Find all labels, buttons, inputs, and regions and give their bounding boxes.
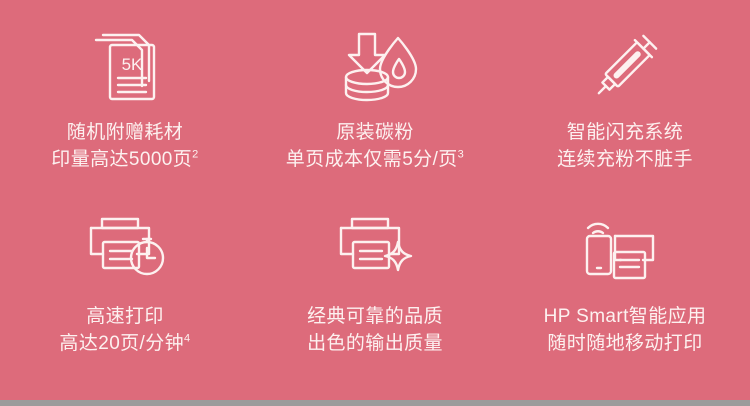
toner-cost-drop-icon <box>325 28 425 106</box>
feature-line-2: 出色的输出质量 <box>307 331 443 358</box>
feature-item-toner-cost: 原装碳粉 单页成本仅需5分/页3 <box>250 28 500 174</box>
feature-item-flash-refill: 智能闪充系统 连续充粉不脏手 <box>500 28 750 174</box>
feature-text-supplies: 随机附赠耗材 印量高达5000页2 <box>51 120 198 174</box>
feature-line-1: HP Smart智能应用 <box>544 304 707 331</box>
feature-line-2: 高达20页/分钟4 <box>59 331 190 358</box>
feature-line-2: 印量高达5000页2 <box>51 147 198 174</box>
footnote-marker: 2 <box>192 149 199 161</box>
phone-wifi-printer-icon <box>575 214 675 286</box>
printer-stopwatch-icon <box>75 214 175 286</box>
feature-item-hp-smart: HP Smart智能应用 随时随地移动打印 <box>500 214 750 358</box>
feature-line-1: 智能闪充系统 <box>557 120 693 147</box>
feature-item-supplies: 5K 随机附赠耗材 印量高达5000页2 <box>0 28 250 174</box>
feature-text-flash-refill: 智能闪充系统 连续充粉不脏手 <box>557 120 693 174</box>
bottom-divider-strip <box>0 400 750 406</box>
feature-item-fast-print: 高速打印 高达20页/分钟4 <box>0 214 250 358</box>
syringe-refill-icon <box>575 28 675 106</box>
feature-grid: 5K 随机附赠耗材 印量高达5000页2 <box>0 0 750 400</box>
feature-line-1: 原装碳粉 <box>286 120 464 147</box>
feature-line-2: 随时随地移动打印 <box>544 331 707 358</box>
feature-text-fast-print: 高速打印 高达20页/分钟4 <box>59 304 190 358</box>
paper-stack-5k-icon: 5K <box>75 28 175 106</box>
feature-text-quality: 经典可靠的品质 出色的输出质量 <box>307 304 443 358</box>
feature-line-2: 连续充粉不脏手 <box>557 147 693 174</box>
footnote-marker: 3 <box>458 149 465 161</box>
feature-line-1: 高速打印 <box>59 304 190 331</box>
printer-sparkle-icon <box>325 214 425 286</box>
hp-printer-feature-banner: 5K 随机附赠耗材 印量高达5000页2 <box>0 0 750 406</box>
footnote-marker: 4 <box>184 333 191 345</box>
feature-line-1: 经典可靠的品质 <box>307 304 443 331</box>
feature-line-1: 随机附赠耗材 <box>51 120 198 147</box>
feature-text-hp-smart: HP Smart智能应用 随时随地移动打印 <box>544 304 707 358</box>
feature-text-toner-cost: 原装碳粉 单页成本仅需5分/页3 <box>286 120 464 174</box>
feature-item-quality: 经典可靠的品质 出色的输出质量 <box>250 214 500 358</box>
feature-line-2: 单页成本仅需5分/页3 <box>286 147 464 174</box>
svg-text:5K: 5K <box>122 55 143 74</box>
